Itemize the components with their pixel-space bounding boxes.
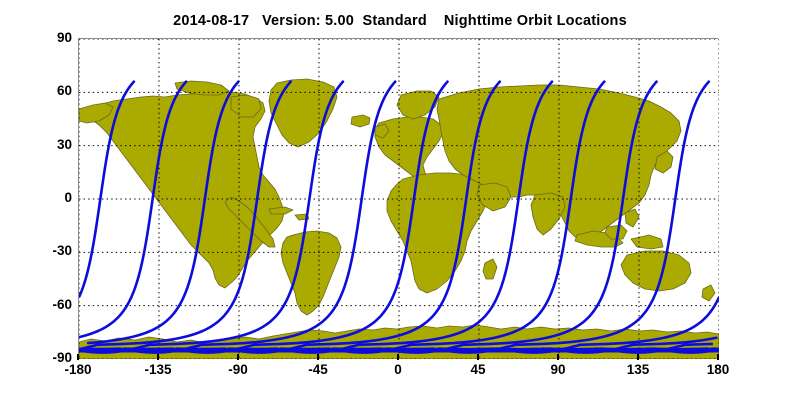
x-axis-ticks: -180-135-90-4504590135180 [78,360,718,384]
x-tick-mark [557,354,559,360]
x-tick-label: 90 [523,362,593,378]
x-tick-label: 135 [603,362,673,378]
x-tick-mark [317,354,319,360]
x-tick-label: 180 [683,362,753,378]
x-tick-label: -45 [283,362,353,378]
x-tick-label: 0 [363,362,433,378]
x-tick-label: 45 [443,362,513,378]
x-tick-mark [477,354,479,360]
x-tick-label: -180 [43,362,113,378]
page-title: 2014-08-17 Version: 5.00 Standard Nightt… [0,13,800,29]
y-tick-label: -60 [12,298,72,312]
y-tick-label: -30 [12,244,72,258]
x-tick-mark [157,354,159,360]
y-tick-label: 90 [12,31,72,45]
x-tick-label: -90 [203,362,273,378]
y-tick-label: 0 [12,191,72,205]
x-tick-mark [717,354,719,360]
x-tick-mark [637,354,639,360]
x-tick-mark [77,354,79,360]
x-tick-mark [237,354,239,360]
orbit-locations-figure: 2014-08-17 Version: 5.00 Standard Nightt… [0,0,800,400]
map-svg [79,39,719,359]
y-tick-label: 30 [12,138,72,152]
y-axis-ticks: -90-60-300306090 [8,38,72,358]
x-tick-label: -135 [123,362,193,378]
y-tick-label: 60 [12,84,72,98]
map-plot-area [78,38,718,358]
x-tick-mark [397,354,399,360]
